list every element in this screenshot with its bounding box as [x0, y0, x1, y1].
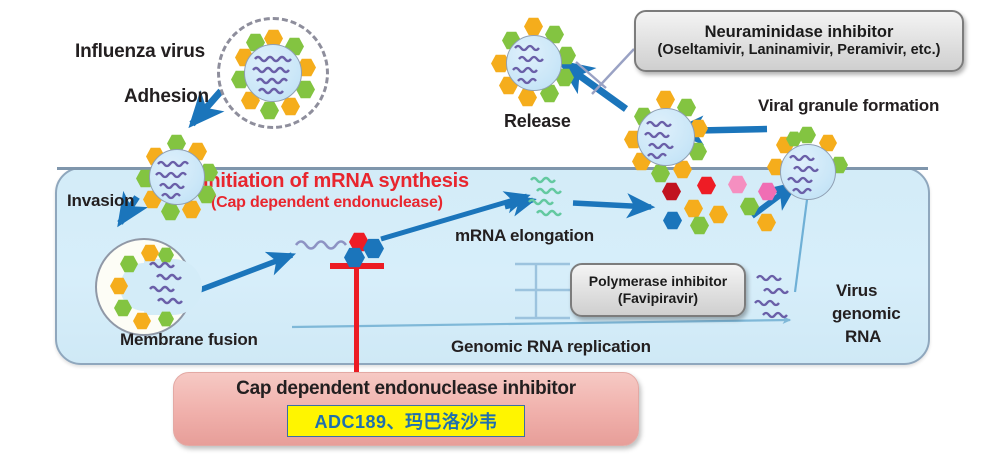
- label-mrna-elongation: mRNA elongation: [455, 226, 594, 246]
- virus-particle-free: [217, 17, 329, 129]
- virus-particle-granule: [615, 88, 715, 188]
- diagram-canvas: Influenza virus Adhesion Invasion Membra…: [0, 0, 983, 474]
- cap-inhibitor-title: Cap dependent endonuclease inhibitor: [236, 378, 576, 400]
- polymerase-inhibitor-title: Polymerase inhibitor: [589, 273, 727, 290]
- label-cap-dependent-endonuclease: (Cap dependent endonuclease): [211, 194, 443, 212]
- polymerase-inhibitor-drug: (Favipiravir): [618, 290, 698, 307]
- cap-inhibitor-stem: [354, 266, 359, 378]
- virus-particle-budding: [762, 122, 854, 214]
- cap-inhibitor-drug-highlight: ADC189、玛巴洛沙韦: [287, 405, 524, 437]
- neuraminidase-inhibitor-drugs: (Oseltamivir, Laninamivir, Peramivir, et…: [658, 42, 941, 59]
- label-influenza-virus: Influenza virus: [75, 41, 205, 63]
- neuraminidase-inhibitor-box[interactable]: Neuraminidase inhibitor (Oseltamivir, La…: [634, 10, 964, 72]
- label-membrane-fusion: Membrane fusion: [120, 330, 258, 350]
- label-adhesion: Adhesion: [124, 86, 209, 108]
- virus-particle-released: [485, 14, 583, 112]
- polymerase-inhibitor-box[interactable]: Polymerase inhibitor (Favipiravir): [570, 263, 746, 317]
- label-virus-genomic-rna-line1: Virus: [836, 281, 877, 301]
- fused-virus-particle: [95, 238, 193, 336]
- label-viral-granule-formation: Viral granule formation: [758, 96, 939, 116]
- cap-endonuclease-inhibitor-box[interactable]: Cap dependent endonuclease inhibitor ADC…: [173, 372, 639, 446]
- label-release: Release: [504, 111, 571, 132]
- label-initiation-mrna-synthesis: Initiation of mRNA synthesis: [203, 170, 469, 193]
- neuraminidase-inhibitor-title: Neuraminidase inhibitor: [705, 23, 894, 42]
- label-virus-genomic-rna-line3: RNA: [845, 327, 881, 347]
- label-invasion: Invasion: [67, 191, 134, 211]
- label-genomic-rna-replication: Genomic RNA replication: [451, 337, 651, 357]
- label-virus-genomic-rna-line2: genomic: [832, 304, 901, 324]
- virus-particle-attached: [130, 130, 224, 224]
